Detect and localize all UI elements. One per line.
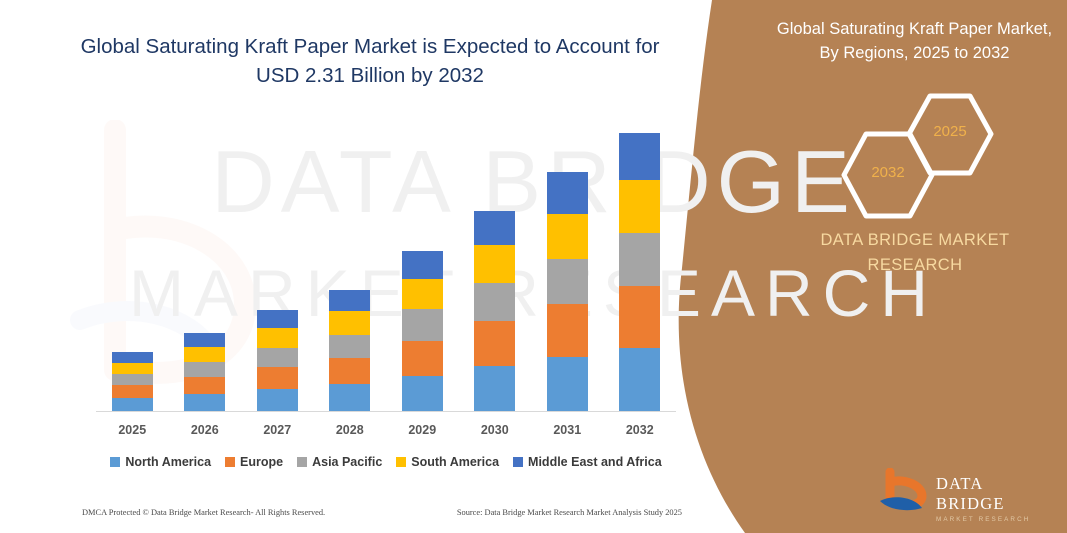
x-axis-label-2032: 2032 bbox=[604, 423, 676, 437]
bar-segment bbox=[547, 304, 588, 356]
bar-segment bbox=[184, 377, 225, 394]
legend-label: Asia Pacific bbox=[312, 455, 382, 469]
footer: DMCA Protected © Data Bridge Market Rese… bbox=[82, 508, 682, 517]
bar-column bbox=[531, 110, 603, 411]
x-axis-label-2030: 2030 bbox=[459, 423, 531, 437]
bar-segment bbox=[547, 172, 588, 213]
bar-column bbox=[241, 110, 313, 411]
bar-segment bbox=[619, 233, 660, 286]
bar-segment bbox=[257, 389, 298, 411]
x-axis-label-2028: 2028 bbox=[314, 423, 386, 437]
legend-label: Middle East and Africa bbox=[528, 455, 662, 469]
logo-name: DATA BRIDGE bbox=[936, 474, 1053, 514]
bar-segment bbox=[112, 352, 153, 363]
bar-segment bbox=[402, 279, 443, 309]
stacked-bar-2029 bbox=[402, 251, 443, 411]
legend-swatch-icon bbox=[225, 457, 235, 467]
legend-swatch-icon bbox=[297, 457, 307, 467]
legend-item[interactable]: South America bbox=[396, 455, 499, 469]
bar-segment bbox=[329, 335, 370, 358]
legend-swatch-icon bbox=[396, 457, 406, 467]
bar-segment bbox=[619, 286, 660, 347]
bar-column bbox=[604, 110, 676, 411]
panel-title: Global Saturating Kraft Paper Market, By… bbox=[772, 18, 1057, 66]
legend-label: Europe bbox=[240, 455, 283, 469]
stacked-bar-chart bbox=[96, 110, 676, 415]
x-axis-labels: 20252026202720282029203020312032 bbox=[96, 423, 676, 437]
panel-brand-name: DATA BRIDGE MARKET RESEARCH bbox=[790, 228, 1040, 278]
x-axis-label-2026: 2026 bbox=[169, 423, 241, 437]
footer-source: Source: Data Bridge Market Research Mark… bbox=[457, 508, 682, 517]
bar-group bbox=[96, 110, 676, 411]
bar-segment bbox=[474, 245, 515, 283]
legend-swatch-icon bbox=[513, 457, 523, 467]
chart-legend: North AmericaEuropeAsia PacificSouth Ame… bbox=[96, 455, 676, 469]
bar-segment bbox=[329, 290, 370, 311]
bar-segment bbox=[474, 211, 515, 245]
x-axis-label-2025: 2025 bbox=[96, 423, 168, 437]
bar-segment bbox=[184, 394, 225, 411]
legend-label: North America bbox=[125, 455, 211, 469]
bar-segment bbox=[257, 328, 298, 347]
bar-segment bbox=[619, 348, 660, 411]
bar-column bbox=[459, 110, 531, 411]
legend-swatch-icon bbox=[110, 457, 120, 467]
x-axis-label-2027: 2027 bbox=[241, 423, 313, 437]
x-axis-label-2029: 2029 bbox=[386, 423, 458, 437]
legend-label: South America bbox=[411, 455, 499, 469]
hexagon-group: 2032 2025 bbox=[820, 92, 1050, 212]
stacked-bar-2026 bbox=[184, 333, 225, 411]
data-bridge-logo-icon bbox=[878, 468, 934, 516]
bar-segment bbox=[402, 309, 443, 340]
bar-segment bbox=[112, 363, 153, 374]
infographic-canvas: DATA BRIDGE MARKET RESEARCH Global Satur… bbox=[0, 0, 1067, 533]
bar-column bbox=[169, 110, 241, 411]
bar-segment bbox=[619, 180, 660, 233]
stacked-bar-2032 bbox=[619, 133, 660, 411]
logo-tagline: MARKET RESEARCH bbox=[936, 516, 1053, 523]
stacked-bar-2025 bbox=[112, 352, 153, 411]
hexagon-start-year-label: 2025 bbox=[905, 123, 995, 140]
bar-segment bbox=[547, 259, 588, 304]
bar-segment bbox=[112, 385, 153, 398]
legend-item[interactable]: Europe bbox=[225, 455, 283, 469]
bar-segment bbox=[112, 374, 153, 385]
stacked-bar-2030 bbox=[474, 211, 515, 411]
bar-segment bbox=[257, 367, 298, 389]
bar-segment bbox=[112, 398, 153, 411]
hexagon-start-year: 2025 bbox=[905, 92, 995, 177]
bar-segment bbox=[619, 133, 660, 179]
bar-segment bbox=[402, 341, 443, 376]
page-title: Global Saturating Kraft Paper Market is … bbox=[60, 32, 680, 90]
bar-column bbox=[314, 110, 386, 411]
legend-item[interactable]: Middle East and Africa bbox=[513, 455, 662, 469]
x-axis-line bbox=[96, 411, 676, 412]
bar-segment bbox=[474, 366, 515, 411]
stacked-bar-2031 bbox=[547, 172, 588, 411]
bar-column bbox=[96, 110, 168, 411]
bar-segment bbox=[547, 214, 588, 259]
bar-segment bbox=[402, 251, 443, 279]
bar-column bbox=[386, 110, 458, 411]
bar-segment bbox=[329, 358, 370, 384]
legend-item[interactable]: Asia Pacific bbox=[297, 455, 382, 469]
bar-segment bbox=[257, 310, 298, 328]
plot-area bbox=[96, 110, 676, 412]
bar-segment bbox=[547, 357, 588, 411]
stacked-bar-2027 bbox=[257, 310, 298, 411]
legend-item[interactable]: North America bbox=[110, 455, 211, 469]
logo-wordmark: DATA BRIDGE MARKET RESEARCH bbox=[936, 474, 1053, 523]
bar-segment bbox=[474, 283, 515, 321]
bar-segment bbox=[184, 362, 225, 377]
company-logo: DATA BRIDGE MARKET RESEARCH bbox=[878, 468, 1053, 516]
bar-segment bbox=[329, 384, 370, 411]
bar-segment bbox=[257, 348, 298, 367]
footer-copyright: DMCA Protected © Data Bridge Market Rese… bbox=[82, 508, 325, 517]
stacked-bar-2028 bbox=[329, 290, 370, 411]
bar-segment bbox=[184, 347, 225, 362]
bar-segment bbox=[474, 321, 515, 365]
x-axis-label-2031: 2031 bbox=[531, 423, 603, 437]
bar-segment bbox=[184, 333, 225, 347]
bar-segment bbox=[402, 376, 443, 411]
bar-segment bbox=[329, 311, 370, 334]
